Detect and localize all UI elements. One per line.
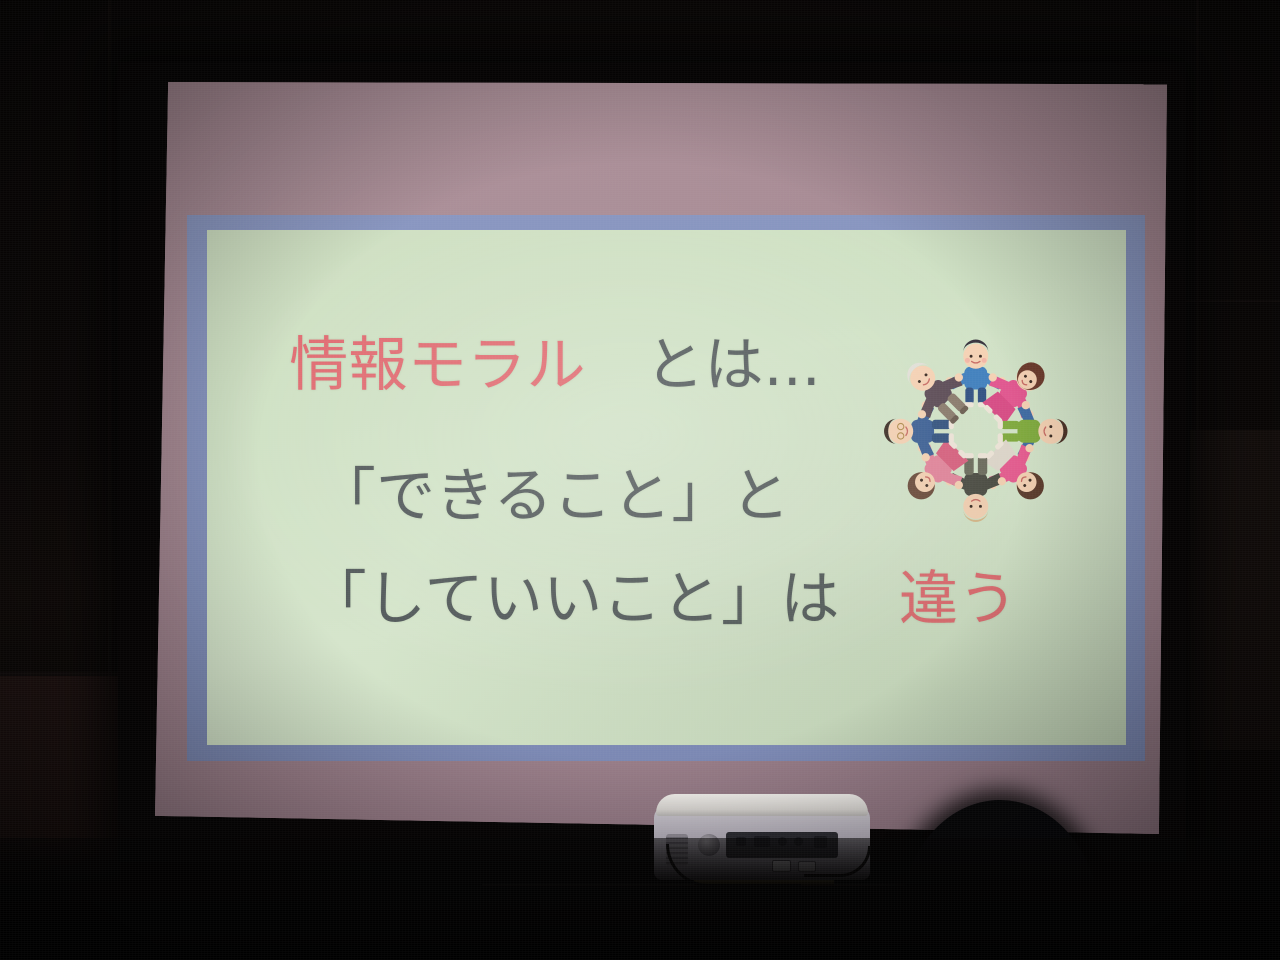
table-clip [630,886,674,892]
box-label-mark [722,887,740,891]
slide-line-3: 「していいこと」は 違う [308,551,1018,636]
projector-cable [666,844,801,887]
slide-line-1-rest: とは... [586,330,821,399]
wall-right-panel [1190,430,1280,750]
photo-scene: 情報モラル とは... 「できること」と 「していいこと」は 違う [0,0,1280,960]
slide-background: 情報モラル とは... 「できること」と 「していいこと」は 違う [155,82,1167,837]
box-label-mark [756,890,782,899]
audience-ear [894,920,920,960]
circle-of-children-illustration [854,327,1098,536]
wall-lower-panel [0,676,120,960]
projector-body [654,806,870,880]
table-leg [548,907,559,960]
slide-line-1-keyword: 情報モラル [289,330,586,399]
box-label-mark [746,899,756,904]
projected-slide: 情報モラル とは... 「できること」と 「していいこと」は 違う [155,82,1167,837]
power-cable [468,888,545,960]
slide-line-3-keyword: 違う [899,564,1018,633]
audience-head [900,800,1100,960]
projector [650,794,874,886]
wall-seam [0,672,120,675]
slide-line-1: 情報モラル とは... [289,317,821,402]
slide-line-3-lead: 「していいこと」は [308,564,899,633]
wall-seam [1196,0,1199,500]
box-label-mark [790,892,824,897]
audience-member-silhouette [900,800,1130,960]
projector-cable [804,846,871,877]
slide-line-2: 「できること」と [317,448,790,533]
slide-content-border: 情報モラル とは... 「できること」と 「していいこと」は 違う [187,215,1144,762]
slide-content-panel: 情報モラル とは... 「できること」と 「していいこと」は 違う [207,230,1126,745]
presentation-table [430,884,950,914]
projector-top-shell [656,794,868,816]
